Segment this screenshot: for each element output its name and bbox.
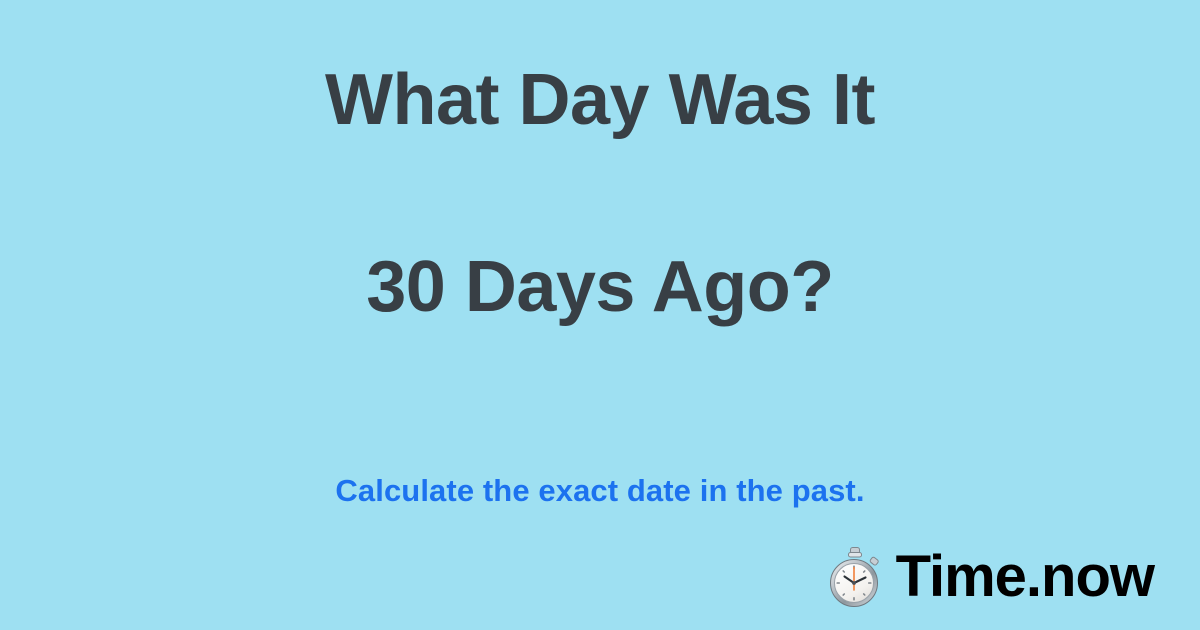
page-title: What Day Was It 30 Days Ago? [325, 0, 875, 428]
hero-section: What Day Was It 30 Days Ago? Calculate t… [0, 0, 1200, 470]
brand-name: Time.now [896, 548, 1154, 606]
headline-line-1: What Day Was It [325, 54, 875, 148]
page-subtitle: Calculate the exact date in the past. [335, 472, 864, 509]
share-card: What Day Was It 30 Days Ago? Calculate t… [0, 0, 1200, 630]
brand-lockup: Time.now [826, 546, 1154, 608]
stopwatch-icon [826, 546, 884, 608]
headline-line-2: 30 Days Ago? [325, 241, 875, 335]
